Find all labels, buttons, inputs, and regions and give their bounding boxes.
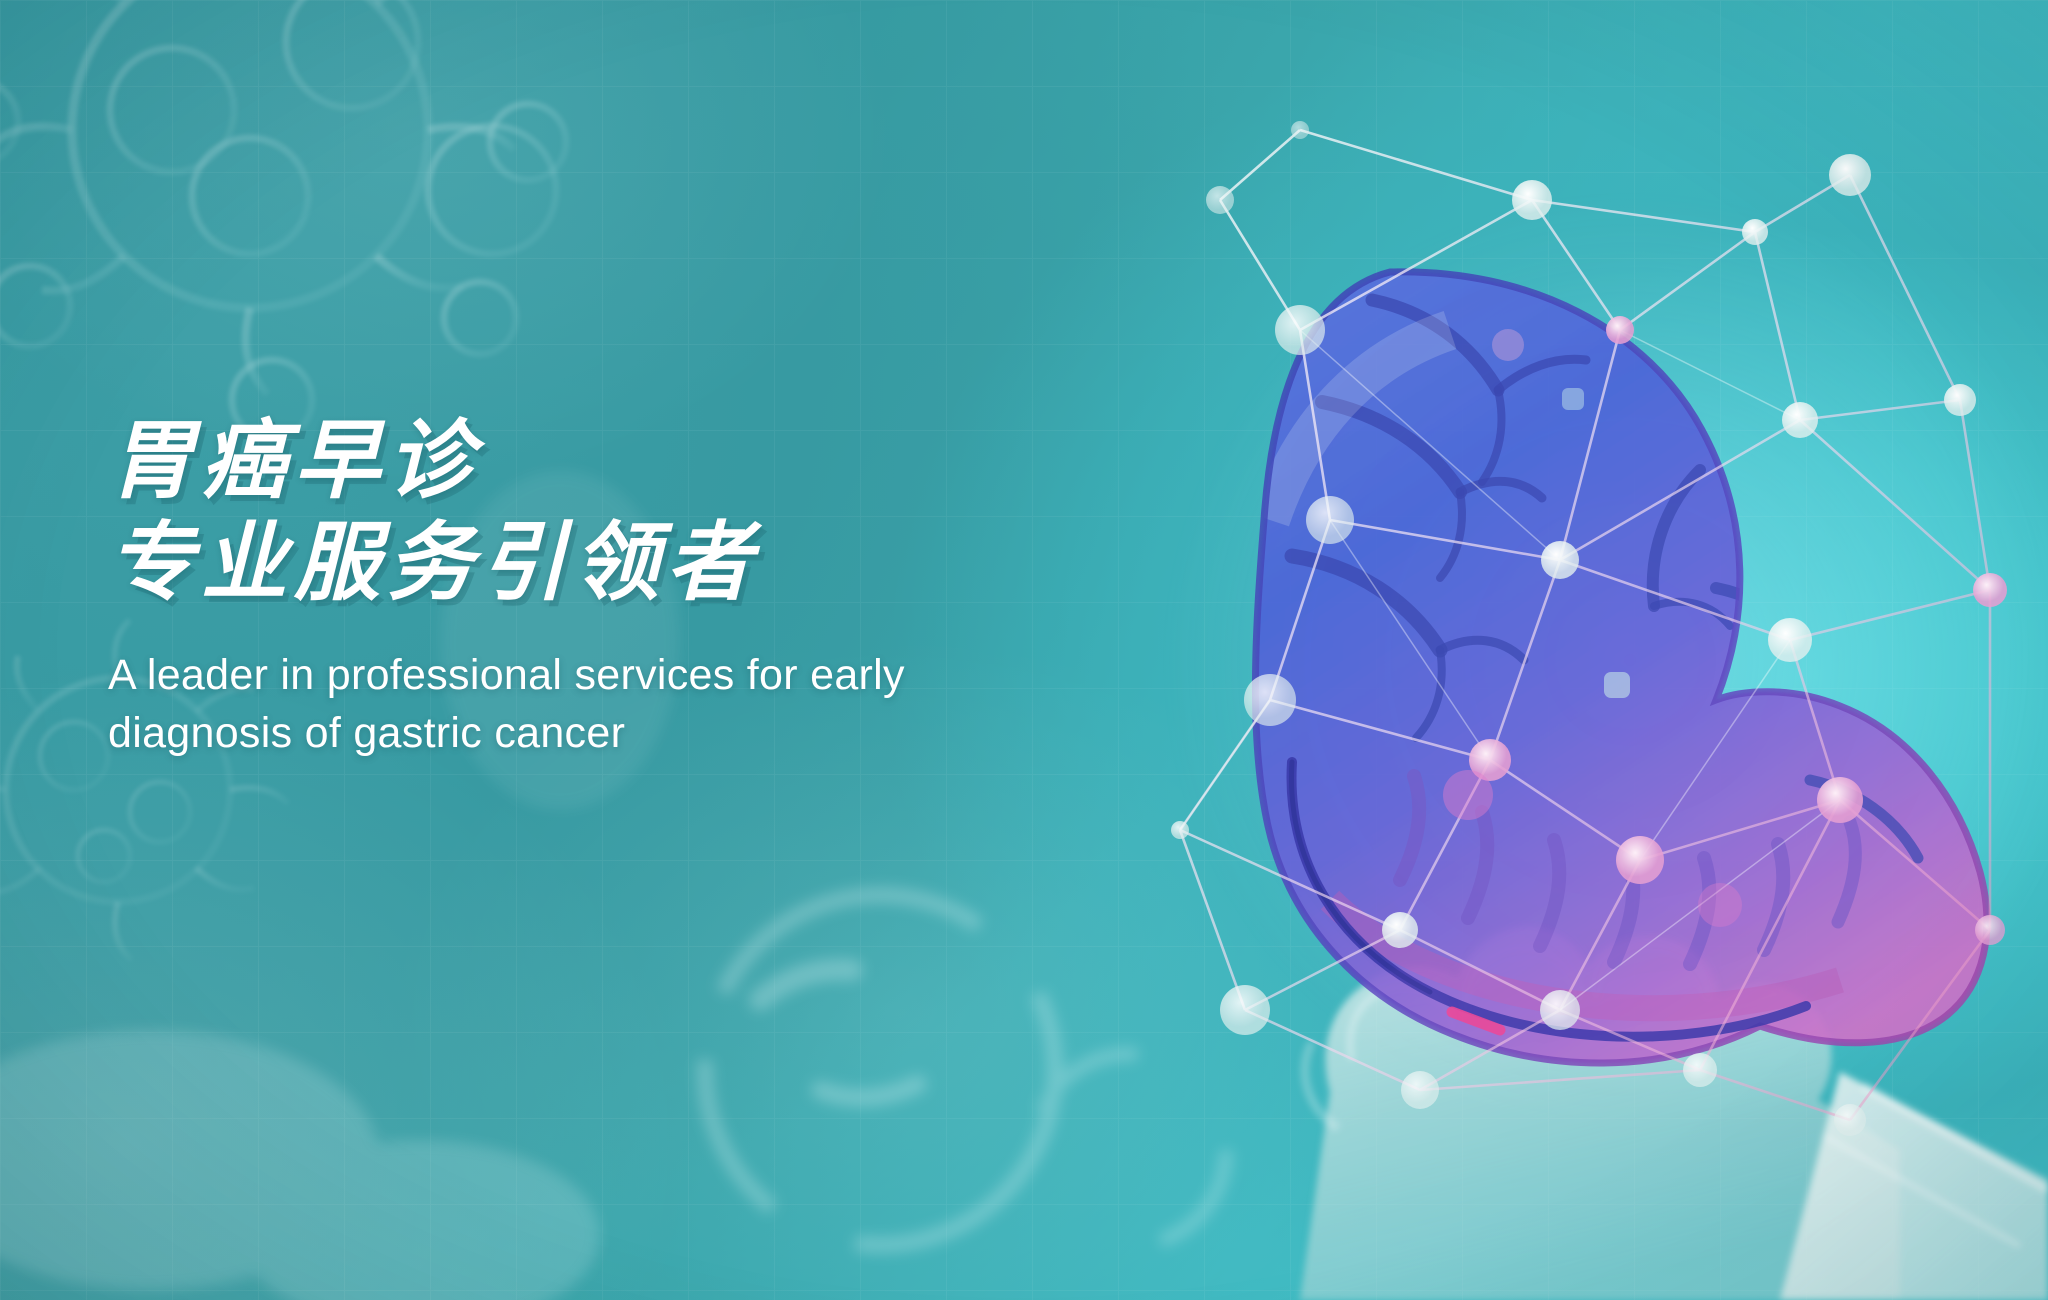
- page-title-line-1: 胃癌早诊: [108, 418, 1168, 506]
- page-subtitle: A leader in professional services for ea…: [108, 647, 1108, 762]
- hero-copy: 胃癌早诊 专业服务引领者 A leader in professional se…: [108, 418, 1168, 763]
- banner-hero: 胃癌早诊 专业服务引领者 A leader in professional se…: [0, 0, 2048, 1300]
- page-subtitle-line-1: A leader in professional services for ea…: [108, 647, 1108, 705]
- page-subtitle-line-2: diagnosis of gastric cancer: [108, 705, 1108, 763]
- page-title-line-2: 专业服务引领者: [108, 520, 1168, 608]
